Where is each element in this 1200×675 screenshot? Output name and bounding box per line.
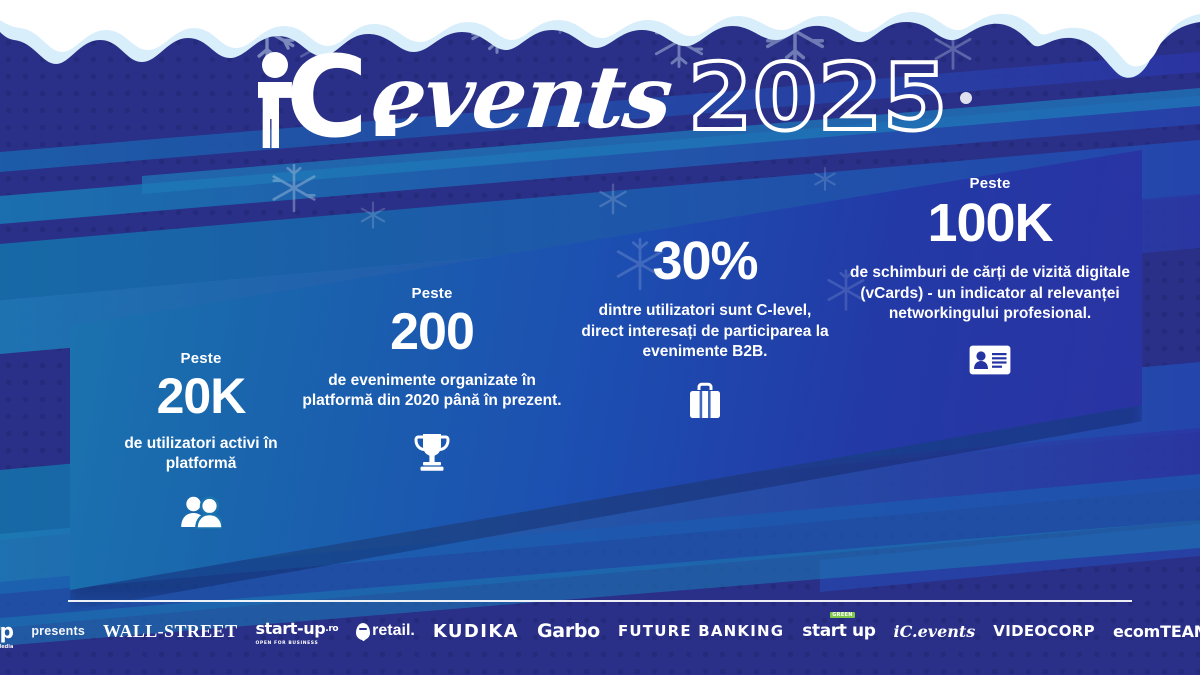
logo-startup-ro[interactable]: start-up .ro OPEN FOR BUSINESS: [256, 619, 339, 643]
logo-startup-ro-suffix: .ro: [325, 624, 338, 634]
stat-value: 100K: [850, 196, 1130, 251]
snow-dot-icon: [300, 62, 318, 80]
logo-internetcorp-subtitle: brand NewMedia: [0, 644, 13, 650]
page-header: C. events 2025: [0, 46, 1200, 155]
logo-videocorp[interactable]: VIDEOCORP: [993, 622, 1095, 640]
infographic-canvas: C. events 2025 Peste 20K de utilizatori …: [0, 0, 1200, 675]
person-icon-head: [262, 52, 288, 78]
green-badge: GREEN: [830, 612, 854, 618]
briefcase-icon: [580, 382, 830, 420]
logo-retail-label: retail.: [372, 622, 415, 640]
footer-divider: [68, 600, 1132, 602]
logo-internetcorp-label: internetcorp: [0, 619, 13, 643]
brand-year: 2025: [688, 50, 948, 146]
logo-retail[interactable]: retail.: [356, 622, 415, 640]
stat-kicker: Peste: [298, 285, 566, 302]
snowflake-icon: [234, 0, 300, 64]
id-card-icon: [850, 344, 1130, 376]
stats-card-group: Peste 20K de utilizatori activi în platf…: [70, 150, 1142, 610]
stat-value: 30%: [580, 234, 830, 289]
logo-wall-street[interactable]: WALL-STREET: [103, 621, 237, 642]
person-icon-body: [258, 82, 292, 148]
stat-description: de schimburi de cărți de vizită digitale…: [850, 263, 1130, 324]
snowflake-icon: [540, 0, 580, 36]
stat-kicker: Peste: [98, 350, 304, 367]
stat-value: 200: [298, 306, 566, 359]
snowflake-icon: [650, 12, 708, 70]
logo-ecom-team[interactable]: ecomTEAM: [1113, 622, 1200, 641]
logo-ic-events[interactable]: iC.events: [894, 622, 976, 641]
presents-label: presents: [31, 624, 85, 638]
brand-letter-c: C.: [286, 46, 403, 150]
brand-word-events: events: [367, 50, 675, 146]
stat-card-users: Peste 20K de utilizatori activi în platf…: [98, 350, 304, 529]
people-icon: [98, 495, 304, 529]
snow-drip-decoration: [0, 0, 1200, 96]
snowflake-icon: [930, 26, 976, 72]
logo-startup-ro-label: start-up: [256, 619, 326, 638]
stat-description: de evenimente organizate în platformă di…: [298, 371, 566, 412]
stat-card-vcards: Peste 100K de schimburi de cărți de vizi…: [850, 175, 1130, 376]
stat-card-events: Peste 200 de evenimente organizate în pl…: [298, 285, 566, 472]
snowflake-icon: [760, 0, 830, 66]
stat-kicker: Peste: [850, 175, 1130, 192]
snowflake-icon: [1108, 0, 1154, 36]
snow-dot-icon: [960, 92, 972, 104]
trophy-icon: [298, 432, 566, 472]
brand-logo: C. events 2025: [252, 46, 948, 150]
logo-kudika[interactable]: KUDIKA: [433, 621, 519, 642]
partner-logo-strip: internetcorp brand NewMedia presents WAL…: [0, 610, 1200, 652]
logo-garbo[interactable]: Garbo: [537, 620, 600, 642]
logo-future-banking[interactable]: FUTURE BANKING: [618, 622, 784, 640]
logo-internetcorp[interactable]: internetcorp brand NewMedia: [0, 619, 13, 643]
brand-ic-mark: C.: [252, 46, 374, 150]
map-pin-icon: [356, 623, 370, 640]
logo-green-startup[interactable]: start up GREEN: [802, 621, 875, 641]
stat-description: de utilizatori activi în platformă: [98, 434, 304, 475]
snowflake-icon: [296, 28, 336, 68]
logo-green-startup-label: start up: [802, 621, 875, 641]
logo-startup-ro-tagline: OPEN FOR BUSINESS: [256, 641, 319, 646]
snowflake-icon: [466, 0, 528, 56]
stat-description: dintre utilizatori sunt C-level, direct …: [580, 301, 830, 362]
stat-card-clevel: 30% dintre utilizatori sunt C-level, dir…: [580, 230, 830, 420]
stat-value: 20K: [98, 371, 304, 422]
